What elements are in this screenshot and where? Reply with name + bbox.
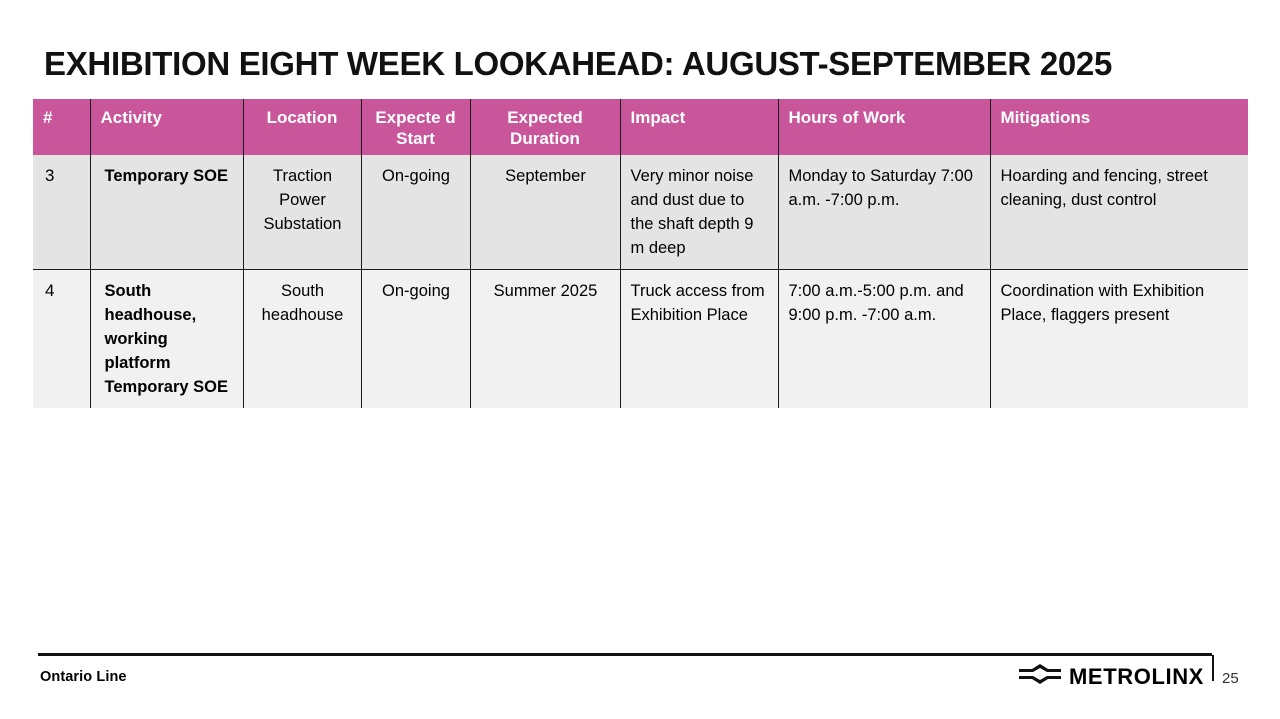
metrolinx-wordmark: METROLINX <box>1069 666 1204 688</box>
footer-divider <box>38 653 1212 656</box>
cell-activity: South headhouse, working platform Tempor… <box>90 270 243 409</box>
cell-mitigations: Coordination with Exhibition Place, flag… <box>990 270 1248 409</box>
cell-impact: Truck access from Exhibition Place <box>620 270 778 409</box>
footer-project-name: Ontario Line <box>40 669 127 685</box>
table-header-row: # Activity Location Expecte d Start Expe… <box>33 99 1248 155</box>
metrolinx-wave-icon <box>1018 663 1062 690</box>
cell-expected-start: On-going <box>361 270 470 409</box>
page-number-divider <box>1212 655 1214 681</box>
page-title: EXHIBITION EIGHT WEEK LOOKAHEAD: AUGUST-… <box>44 44 1224 84</box>
page-number: 25 <box>1222 670 1239 687</box>
lookahead-table: # Activity Location Expecte d Start Expe… <box>33 99 1248 408</box>
cell-hours-of-work: Monday to Saturday 7:00 a.m. -7:00 p.m. <box>778 155 990 270</box>
cell-expected-duration: Summer 2025 <box>470 270 620 409</box>
cell-activity: Temporary SOE <box>90 155 243 270</box>
cell-mitigations: Hoarding and fencing, street cleaning, d… <box>990 155 1248 270</box>
column-header-location: Location <box>243 99 361 155</box>
cell-expected-start: On-going <box>361 155 470 270</box>
column-header-number: # <box>33 99 90 155</box>
cell-location: South headhouse <box>243 270 361 409</box>
column-header-hours-of-work: Hours of Work <box>778 99 990 155</box>
column-header-activity: Activity <box>90 99 243 155</box>
column-header-impact: Impact <box>620 99 778 155</box>
cell-number: 4 <box>33 270 90 409</box>
cell-location: Traction Power Substation <box>243 155 361 270</box>
column-header-expected-start: Expecte d Start <box>361 99 470 155</box>
cell-hours-of-work: 7:00 a.m.-5:00 p.m. and 9:00 p.m. -7:00 … <box>778 270 990 409</box>
cell-expected-duration: September <box>470 155 620 270</box>
table-row: 4 South headhouse, working platform Temp… <box>33 270 1248 409</box>
cell-impact: Very minor noise and dust due to the sha… <box>620 155 778 270</box>
cell-number: 3 <box>33 155 90 270</box>
column-header-mitigations: Mitigations <box>990 99 1248 155</box>
table-row: 3 Temporary SOE Traction Power Substatio… <box>33 155 1248 270</box>
metrolinx-logo: METROLINX <box>1018 663 1204 690</box>
column-header-expected-duration: Expected Duration <box>470 99 620 155</box>
